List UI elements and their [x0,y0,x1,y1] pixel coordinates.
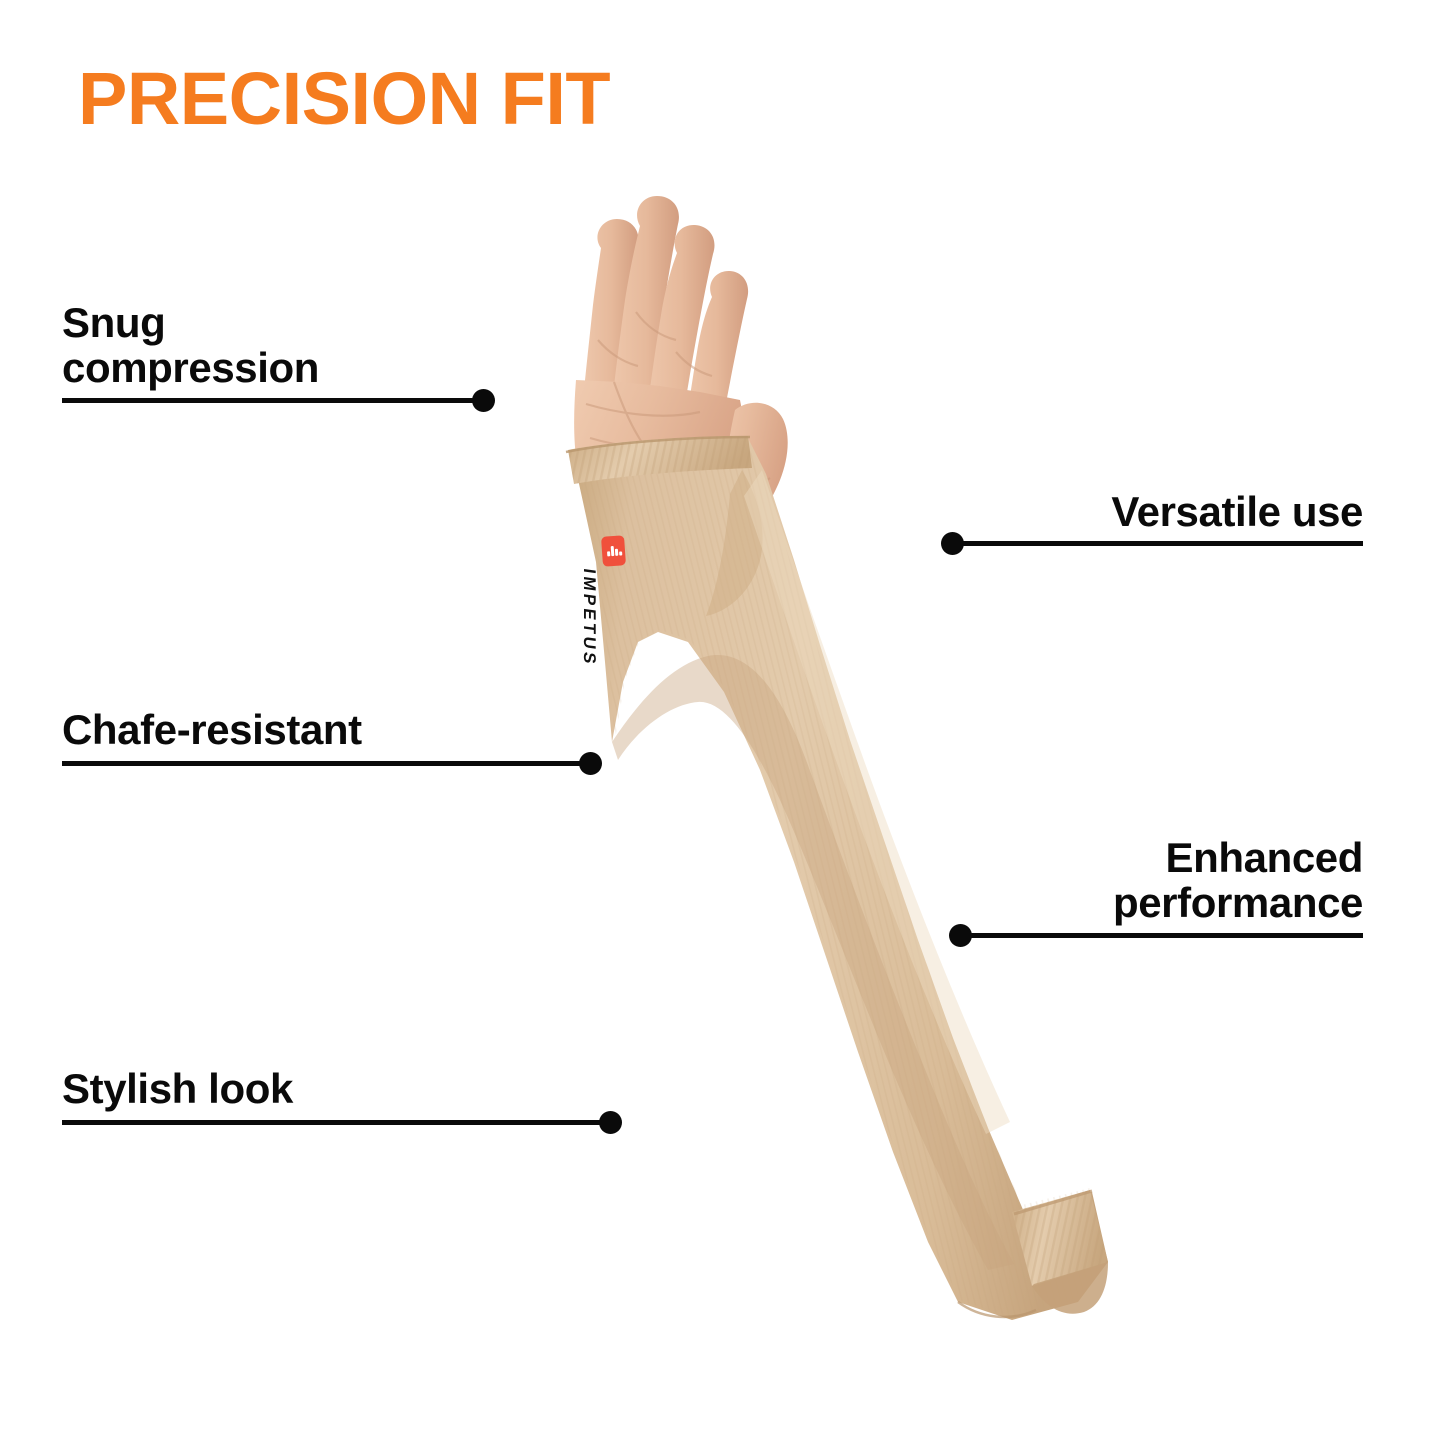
callout-endpoint-dot [599,1111,622,1134]
sleeve-wrist-cuff [568,436,752,484]
sleeve-upper-cuff [1012,1190,1108,1286]
finger-little [678,271,748,482]
callout-label-enhanced-performance: Enhanced performance [949,835,1363,926]
callout-label-versatile-use: Versatile use [941,489,1363,534]
brand-name-label: IMPETUS [579,567,599,690]
thumb-creases [722,478,770,524]
infographic-canvas: PRECISION FIT [0,0,1445,1445]
finger-middle [607,196,679,452]
sleeve-upper-cuff-texture [1012,1190,1108,1286]
page-title: PRECISION FIT [78,62,610,136]
impetus-bars-logo-icon [601,535,626,567]
callout-leader-line [62,761,590,766]
callout-endpoint-dot [579,752,602,775]
callout-endpoint-dot [941,532,964,555]
finger-index [579,219,639,448]
callout-endpoint-dot [949,924,972,947]
callout-leader-line [952,541,1363,546]
thumb [713,403,788,540]
sleeve-opening [1032,1262,1108,1314]
palm-creases [586,312,716,487]
callout-label-snug-compression: Snug compression [62,300,494,391]
palm [574,380,746,540]
finger-ring [641,225,714,462]
sleeve-thumb-gusset [706,470,763,616]
sleeve-wrist-cuff-texture [568,436,752,484]
callout-leader-line [62,1120,610,1125]
sleeve-highlight [744,470,1010,1134]
callout-leader-line [62,398,483,403]
callout-endpoint-dot [472,389,495,412]
callout-label-chafe-resistant: Chafe-resistant [62,707,602,752]
callout-label-stylish-look: Stylish look [62,1066,622,1111]
callout-leader-line [960,933,1363,938]
sleeve-inner-shadow [612,655,1014,1270]
